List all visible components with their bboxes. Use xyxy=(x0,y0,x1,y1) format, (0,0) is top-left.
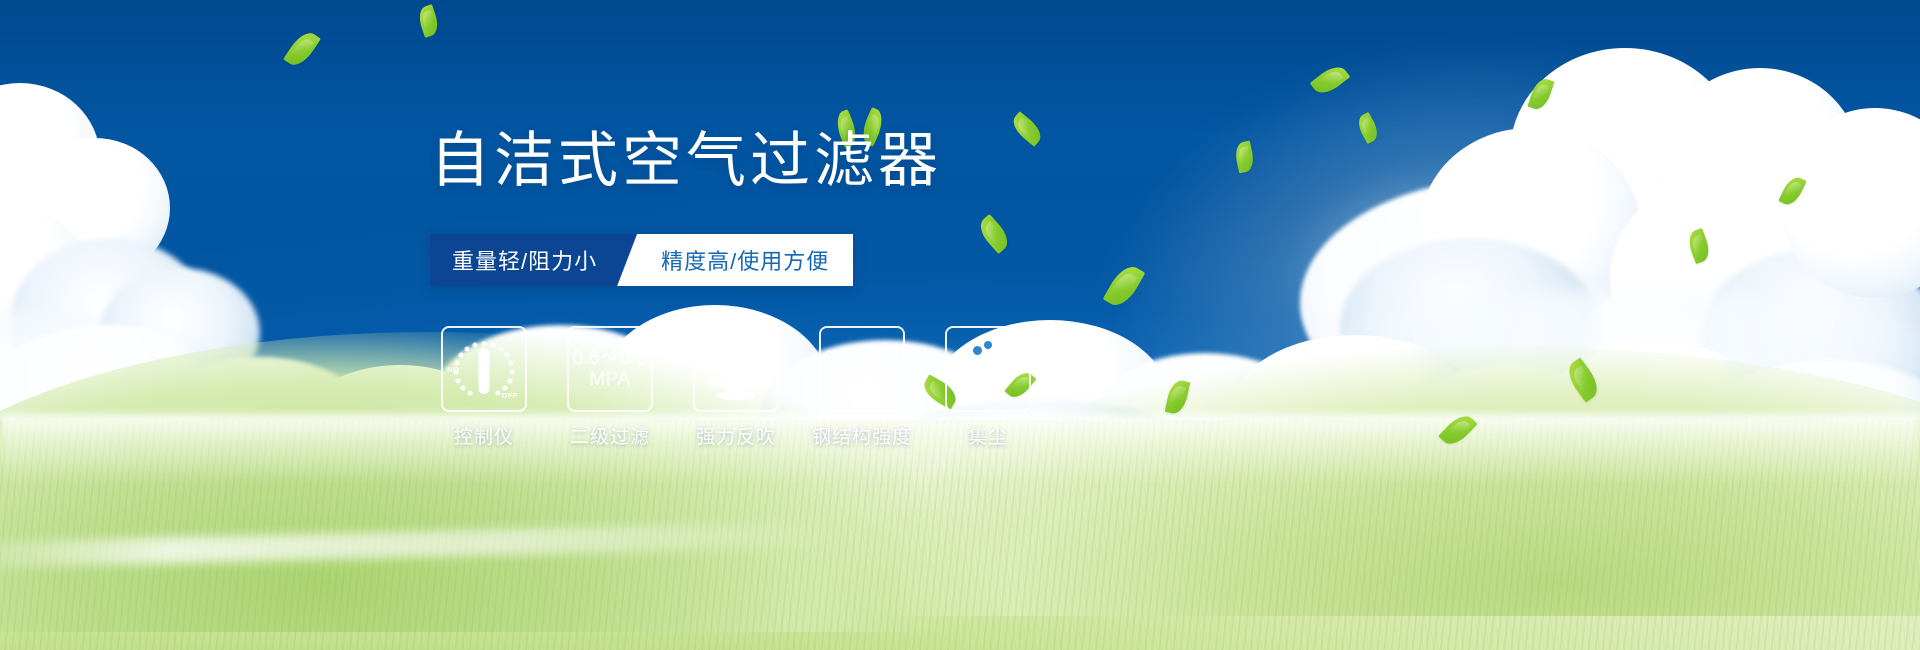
filter-stack-icon xyxy=(705,338,767,400)
steel-material: 钢板 xyxy=(825,369,899,390)
feature-icon-box xyxy=(693,326,779,412)
air-label: Air xyxy=(953,386,1023,400)
feature-label: 控制仪 xyxy=(454,422,514,449)
page-title: 自洁式空气过滤器 xyxy=(430,128,942,194)
feature-item-steel-strength[interactable]: 3～8MM 钢板 钢结构强度 xyxy=(814,326,910,449)
feature-icon-box: 3～8MM 钢板 xyxy=(819,326,905,412)
pressure-text-icon: 0.6～0.8 MPA xyxy=(572,348,647,391)
feature-item-dust-collection[interactable]: Air 集尘 xyxy=(940,326,1036,449)
feature-list: NO OFF 控制仪 0.6～0.8 MPA 二级过滤 xyxy=(436,326,1036,449)
cloud-lobe xyxy=(957,354,975,372)
feature-item-strong-backflush[interactable]: 强力反吹 xyxy=(688,326,784,449)
feature-label: 集尘 xyxy=(968,422,1008,449)
banner-content: 自洁式空气过滤器 重量轻/阻力小 精度高/使用方便 xyxy=(0,0,1920,650)
feature-icon-box: 0.6～0.8 MPA xyxy=(567,326,653,412)
steel-thickness: 3～8MM xyxy=(825,348,899,369)
feature-label: 钢结构强度 xyxy=(812,422,912,449)
feature-item-controller[interactable]: NO OFF 控制仪 xyxy=(436,326,532,449)
tag-weight-resistance[interactable]: 重量轻/阻力小 xyxy=(430,234,637,286)
feature-label: 二级过滤 xyxy=(570,422,650,449)
cloud-notch xyxy=(984,341,992,349)
cloud-notch xyxy=(973,346,982,355)
tag-group: 重量轻/阻力小 精度高/使用方便 xyxy=(430,234,853,286)
feature-item-second-stage-filter[interactable]: 0.6～0.8 MPA 二级过滤 xyxy=(562,326,658,449)
cloud-air-icon: Air xyxy=(953,340,1023,398)
steel-text-icon: 3～8MM 钢板 xyxy=(825,348,899,391)
gauge-label-no: NO xyxy=(447,365,459,374)
filter-stack-core xyxy=(728,342,745,396)
tag-precision-usability[interactable]: 精度高/使用方便 xyxy=(617,234,853,286)
banner-stage: 自洁式空气过滤器 重量轻/阻力小 精度高/使用方便 xyxy=(0,0,1920,650)
pressure-unit: MPA xyxy=(572,369,647,390)
gauge-icon: NO OFF xyxy=(448,336,520,402)
feature-icon-box: Air xyxy=(945,326,1031,412)
feature-label: 强力反吹 xyxy=(696,422,776,449)
feature-icon-box: NO OFF xyxy=(441,326,527,412)
pressure-value: 0.6～0.8 xyxy=(572,348,647,369)
gauge-label-off: OFF xyxy=(502,391,519,400)
gauge-needle-icon xyxy=(479,348,490,394)
